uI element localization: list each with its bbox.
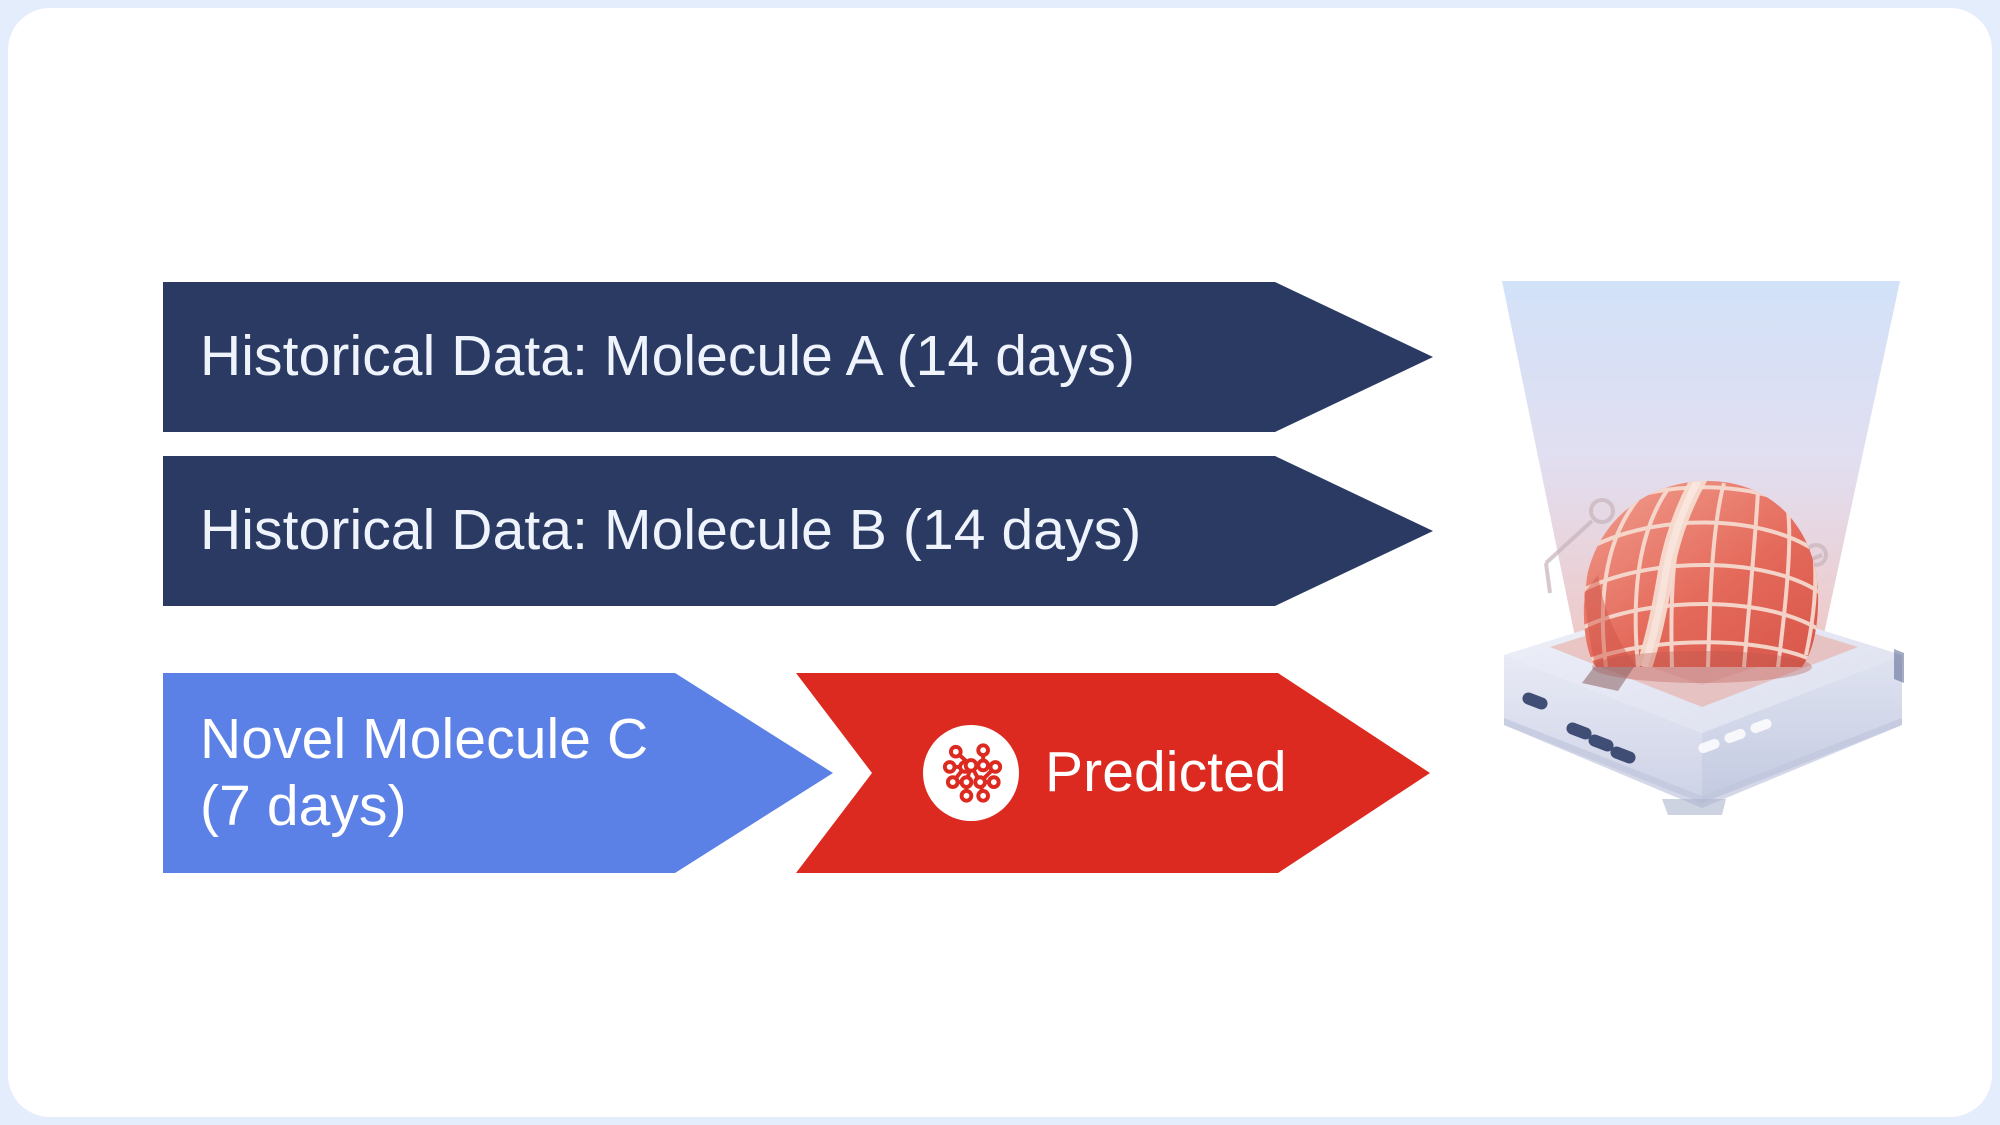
process-arrow-label-historical-molecule-a: Historical Data: Molecule A (14 days) — [163, 323, 1135, 390]
process-arrow-historical-molecule-b[interactable]: Historical Data: Molecule B (14 days) — [163, 456, 1433, 606]
process-arrow-novel-molecule-c[interactable]: Novel Molecule C (7 days) — [163, 673, 833, 873]
process-arrow-label-novel-molecule-c: Novel Molecule C (7 days) — [163, 706, 658, 841]
neural-network-icon — [923, 725, 1019, 821]
process-arrow-label-predicted: Predicted — [1045, 739, 1287, 806]
process-arrow-predicted[interactable]: Predicted — [796, 673, 1430, 873]
slide-card: Historical Data: Molecule A (14 days) Hi… — [8, 8, 1992, 1117]
predicted-content: Predicted — [796, 725, 1287, 821]
process-arrow-label-historical-molecule-b: Historical Data: Molecule B (14 days) — [163, 497, 1141, 564]
process-arrow-historical-molecule-a[interactable]: Historical Data: Molecule A (14 days) — [163, 282, 1433, 432]
holographic-brain-projector-illustration — [1486, 263, 1916, 893]
